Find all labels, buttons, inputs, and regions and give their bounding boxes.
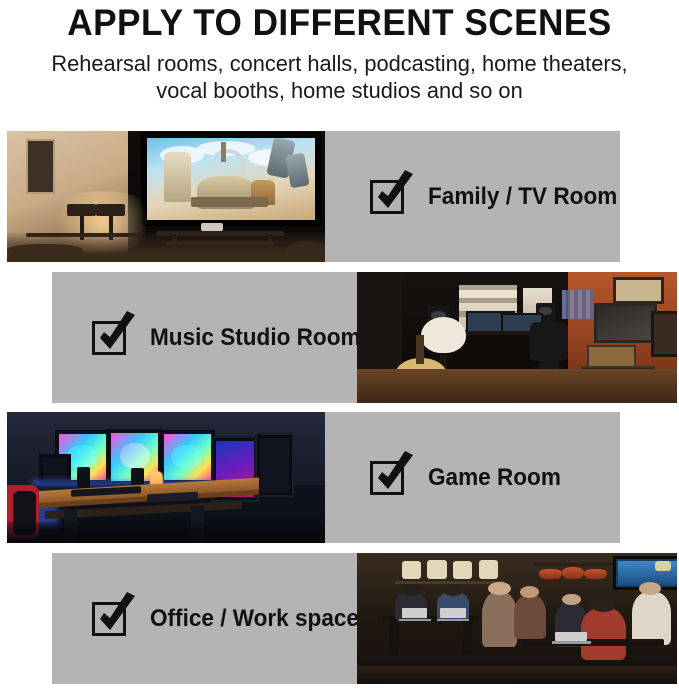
page-subtitle: Rehearsal rooms, concert halls, podcasti…: [10, 50, 669, 104]
checked-checkbox-icon: [370, 457, 412, 499]
checked-checkbox-icon: [370, 176, 412, 218]
photo-home-theater: [7, 131, 325, 262]
checked-checkbox-icon: [92, 598, 134, 640]
label-panel-music-studio-room: Music Studio Room: [52, 272, 357, 403]
photo-game-room: [7, 412, 325, 543]
scene-row-office-work-space: Office / Work space: [52, 553, 677, 684]
header: APPLY TO DIFFERENT SCENES Rehearsal room…: [0, 0, 679, 104]
scene-row-family-tv-room: Family / TV Room: [7, 131, 620, 262]
subtitle-line-1: Rehearsal rooms, concert halls, podcasti…: [10, 50, 669, 77]
scene-application-infographic: APPLY TO DIFFERENT SCENES Rehearsal room…: [0, 0, 679, 692]
checked-checkbox-icon: [92, 317, 134, 359]
scene-label: Office / Work space: [150, 605, 359, 633]
page-title: APPLY TO DIFFERENT SCENES: [17, 2, 662, 44]
label-panel-game-room: Game Room: [325, 412, 620, 543]
scene-label: Family / TV Room: [428, 183, 617, 211]
scene-row-game-room: Game Room: [7, 412, 620, 543]
scene-label: Game Room: [428, 464, 561, 492]
scene-label: Music Studio Room: [150, 324, 361, 352]
photo-office-workspace: [357, 553, 677, 684]
label-panel-office-work-space: Office / Work space: [52, 553, 357, 684]
label-panel-family-tv-room: Family / TV Room: [325, 131, 620, 262]
photo-music-studio: [357, 272, 677, 403]
scene-row-music-studio-room: Music Studio Room: [52, 272, 677, 403]
subtitle-line-2: vocal booths, home studios and so on: [10, 77, 669, 104]
